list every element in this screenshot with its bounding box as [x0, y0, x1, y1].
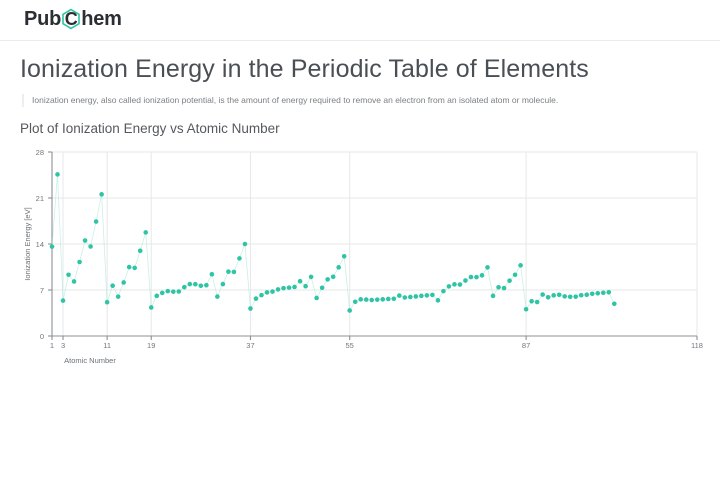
- data-point[interactable]: [540, 292, 545, 297]
- logo-bar: Pub C hem: [0, 0, 720, 40]
- data-point[interactable]: [287, 285, 292, 290]
- data-point[interactable]: [573, 294, 578, 299]
- data-point[interactable]: [248, 306, 253, 311]
- data-point[interactable]: [259, 293, 264, 298]
- data-point[interactable]: [364, 297, 369, 302]
- data-point[interactable]: [314, 295, 319, 300]
- data-point[interactable]: [149, 305, 154, 310]
- data-point[interactable]: [463, 278, 468, 283]
- y-tick-label: 14: [36, 240, 44, 249]
- data-point[interactable]: [480, 273, 485, 278]
- data-point[interactable]: [281, 286, 286, 291]
- page-title: Ionization Energy in the Periodic Table …: [0, 41, 720, 84]
- data-point[interactable]: [430, 292, 435, 297]
- data-point[interactable]: [579, 293, 584, 298]
- data-point[interactable]: [485, 265, 490, 270]
- y-tick-label: 0: [40, 332, 44, 341]
- data-point[interactable]: [452, 282, 457, 287]
- data-point[interactable]: [94, 219, 99, 224]
- data-point[interactable]: [441, 289, 446, 294]
- data-point[interactable]: [50, 244, 55, 249]
- data-point[interactable]: [99, 192, 104, 197]
- pubchem-logo[interactable]: Pub C hem: [24, 8, 122, 30]
- data-point[interactable]: [336, 265, 341, 270]
- data-point[interactable]: [353, 299, 358, 304]
- data-point[interactable]: [458, 282, 463, 287]
- data-point[interactable]: [265, 290, 270, 295]
- data-point[interactable]: [568, 294, 573, 299]
- data-point[interactable]: [176, 289, 181, 294]
- data-point[interactable]: [121, 280, 126, 285]
- data-point[interactable]: [551, 293, 556, 298]
- data-point[interactable]: [160, 290, 165, 295]
- data-point[interactable]: [369, 298, 374, 303]
- data-point[interactable]: [188, 282, 193, 287]
- x-tick-label: 118: [691, 341, 703, 350]
- data-point[interactable]: [204, 283, 209, 288]
- data-point[interactable]: [612, 301, 617, 306]
- x-tick-label: 11: [103, 341, 111, 350]
- data-point[interactable]: [391, 296, 396, 301]
- data-point[interactable]: [237, 256, 242, 261]
- x-tick-label: 37: [246, 341, 254, 350]
- data-point[interactable]: [507, 278, 512, 283]
- data-point[interactable]: [232, 269, 237, 274]
- data-point[interactable]: [303, 284, 308, 289]
- data-point[interactable]: [154, 293, 159, 298]
- logo-text-pub: Pub: [24, 9, 61, 29]
- hexagon-icon: C: [60, 8, 82, 30]
- data-point[interactable]: [193, 282, 198, 287]
- x-tick-label: 19: [147, 341, 155, 350]
- data-point[interactable]: [199, 283, 204, 288]
- data-point[interactable]: [595, 291, 600, 296]
- data-point[interactable]: [61, 298, 66, 303]
- data-point[interactable]: [358, 297, 363, 302]
- data-point[interactable]: [243, 241, 248, 246]
- data-point[interactable]: [88, 244, 93, 249]
- data-point[interactable]: [474, 275, 479, 280]
- data-point[interactable]: [386, 296, 391, 301]
- data-point[interactable]: [546, 295, 551, 300]
- data-point[interactable]: [375, 297, 380, 302]
- data-point[interactable]: [77, 259, 82, 264]
- data-point[interactable]: [606, 290, 611, 295]
- data-point[interactable]: [601, 290, 606, 295]
- data-point[interactable]: [397, 293, 402, 298]
- plot-heading: Plot of Ionization Energy vs Atomic Numb…: [0, 107, 720, 136]
- data-point[interactable]: [276, 287, 281, 292]
- data-point[interactable]: [331, 274, 336, 279]
- data-point[interactable]: [584, 292, 589, 297]
- data-point[interactable]: [215, 294, 220, 299]
- data-point[interactable]: [524, 307, 529, 312]
- data-point[interactable]: [436, 298, 441, 303]
- data-point[interactable]: [292, 284, 297, 289]
- data-point[interactable]: [496, 285, 501, 290]
- description-text: Ionization energy, also called ionizatio…: [32, 94, 720, 107]
- y-tick-label: 7: [40, 286, 44, 295]
- data-point[interactable]: [254, 296, 259, 301]
- data-point[interactable]: [535, 299, 540, 304]
- y-tick-label: 21: [36, 194, 44, 203]
- data-point[interactable]: [557, 292, 562, 297]
- data-point[interactable]: [513, 272, 518, 277]
- data-point[interactable]: [403, 295, 408, 300]
- data-point[interactable]: [518, 263, 523, 268]
- data-point[interactable]: [325, 277, 330, 282]
- data-point[interactable]: [55, 172, 60, 177]
- data-point[interactable]: [171, 289, 176, 294]
- data-point[interactable]: [491, 293, 496, 298]
- data-point[interactable]: [270, 289, 275, 294]
- data-point[interactable]: [562, 294, 567, 299]
- data-point[interactable]: [105, 300, 110, 305]
- data-point[interactable]: [210, 272, 215, 277]
- data-point[interactable]: [116, 294, 121, 299]
- chart-svg: 07142128131119375587118Atomic NumberIoni…: [0, 144, 720, 384]
- data-point[interactable]: [529, 299, 534, 304]
- data-point[interactable]: [110, 283, 115, 288]
- data-point[interactable]: [408, 294, 413, 299]
- data-point[interactable]: [469, 275, 474, 280]
- data-point[interactable]: [425, 293, 430, 298]
- data-point[interactable]: [309, 274, 314, 279]
- data-point[interactable]: [419, 293, 424, 298]
- x-tick-label: 3: [61, 341, 65, 350]
- data-point[interactable]: [226, 269, 231, 274]
- data-point[interactable]: [590, 291, 595, 296]
- logo-text-hem: hem: [81, 9, 122, 29]
- data-point[interactable]: [298, 279, 303, 284]
- x-tick-label: 1: [50, 341, 54, 350]
- data-point[interactable]: [165, 289, 170, 294]
- y-axis-title: Ionization Energy [eV]: [23, 207, 32, 280]
- data-point[interactable]: [138, 248, 143, 253]
- data-point[interactable]: [380, 297, 385, 302]
- data-point[interactable]: [182, 285, 187, 290]
- data-point[interactable]: [347, 308, 352, 313]
- ionization-energy-chart[interactable]: 07142128131119375587118Atomic NumberIoni…: [0, 144, 720, 384]
- data-point[interactable]: [127, 265, 132, 270]
- x-tick-label: 87: [522, 341, 530, 350]
- logo-text-c: C: [65, 10, 78, 28]
- x-tick-label: 55: [346, 341, 354, 350]
- data-point[interactable]: [221, 282, 226, 287]
- description-block: Ionization energy, also called ionizatio…: [22, 94, 720, 107]
- y-tick-label: 28: [36, 148, 44, 157]
- data-point[interactable]: [143, 230, 148, 235]
- data-point[interactable]: [83, 238, 88, 243]
- data-point[interactable]: [342, 254, 347, 259]
- data-point[interactable]: [414, 294, 419, 299]
- data-point[interactable]: [72, 279, 77, 284]
- data-point[interactable]: [132, 265, 137, 270]
- data-point[interactable]: [447, 284, 452, 289]
- data-point[interactable]: [66, 272, 71, 277]
- data-point[interactable]: [502, 286, 507, 291]
- data-point[interactable]: [320, 285, 325, 290]
- x-axis-title: Atomic Number: [64, 356, 116, 365]
